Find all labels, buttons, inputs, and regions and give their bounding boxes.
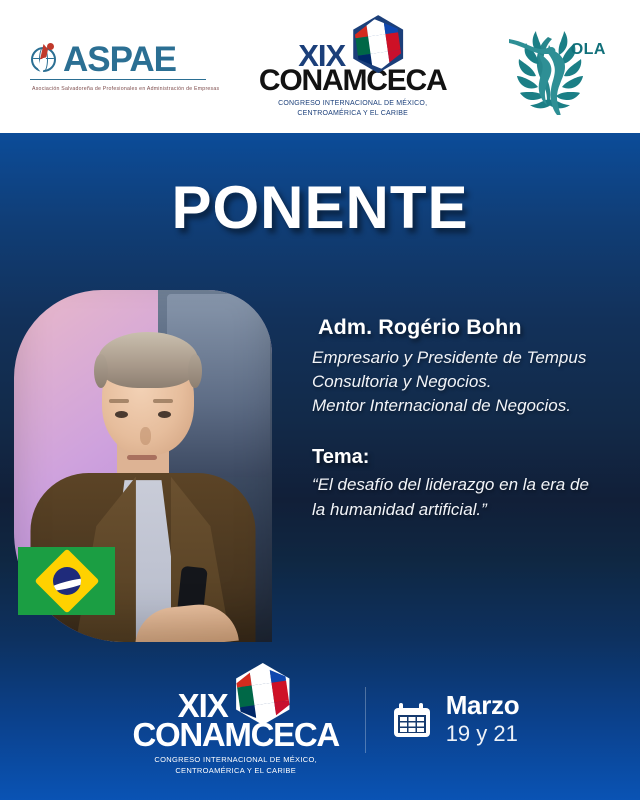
- event-month: Marzo: [446, 692, 520, 718]
- speaker-name: Adm. Rogério Bohn: [312, 315, 630, 340]
- conamceca-subtitle-line1: CONGRESO INTERNACIONAL DE MÉXICO,: [278, 99, 427, 108]
- footer-conamceca-subtitle-line1: CONGRESO INTERNACIONAL DE MÉXICO,: [154, 755, 317, 766]
- speaker-role: Empresario y Presidente de Tempus Consul…: [312, 346, 630, 418]
- laurel-americas-icon: [486, 19, 614, 115]
- conamceca-subtitle: CONGRESO INTERNACIONAL DE MÉXICO, CENTRO…: [278, 99, 427, 118]
- aspae-tagline: Asociación Salvadoreña de Profesionales …: [30, 86, 219, 92]
- conamceca-logo: XIX CONAMCECA CONGRESO INTERNACIONAL DE …: [259, 15, 447, 118]
- topic-line2: la humanidad artificial.”: [312, 498, 630, 522]
- footer-divider: [365, 687, 366, 753]
- page-title: PONENTE: [0, 178, 640, 238]
- footer-conamceca-logo: XIX CONAMCECA CONGRESO INTERNACIONAL DE …: [121, 663, 351, 776]
- event-days: 19 y 21: [446, 720, 520, 748]
- speaker-role-line2: Consultoria y Negocios.: [312, 370, 630, 394]
- globe-arrow-icon: [30, 44, 60, 74]
- topic-label: Tema:: [312, 446, 630, 469]
- speaker-info: Adm. Rogério Bohn Empresario y President…: [312, 315, 630, 522]
- speaker-role-line1: Empresario y Presidente de Tempus: [312, 346, 630, 370]
- header-logo-band: ASPAE Asociación Salvadoreña de Profesio…: [0, 0, 640, 133]
- ola-logo: OLA: [486, 19, 614, 115]
- footer-conamceca-subtitle: CONGRESO INTERNACIONAL DE MÉXICO, CENTRO…: [154, 755, 317, 776]
- hexagon-flags-icon: [232, 663, 294, 725]
- brazil-flag-icon: [18, 547, 115, 615]
- ola-wordmark: OLA: [571, 41, 606, 59]
- poster-canvas: ASPAE Asociación Salvadoreña de Profesio…: [0, 0, 640, 800]
- speaker-role-line3: Mentor Internacional de Negocios.: [312, 394, 630, 418]
- hexagon-flags-icon: [349, 15, 407, 73]
- footer-bar: XIX CONAMCECA CONGRESO INTERNACIONAL DE …: [0, 663, 640, 776]
- aspae-divider: [30, 79, 206, 80]
- aspae-logo: ASPAE Asociación Salvadoreña de Profesio…: [30, 42, 219, 92]
- topic-line1: “El desafío del liderazgo en la era de: [312, 473, 630, 497]
- event-date: Marzo 19 y 21: [392, 692, 520, 748]
- topic-text: “El desafío del liderazgo en la era de l…: [312, 473, 630, 521]
- calendar-icon: [392, 701, 432, 739]
- aspae-wordmark: ASPAE: [63, 42, 176, 77]
- footer-conamceca-subtitle-line2: CENTROAMÉRICA Y EL CARIBE: [154, 766, 317, 777]
- conamceca-subtitle-line2: CENTROAMÉRICA Y EL CARIBE: [278, 109, 427, 118]
